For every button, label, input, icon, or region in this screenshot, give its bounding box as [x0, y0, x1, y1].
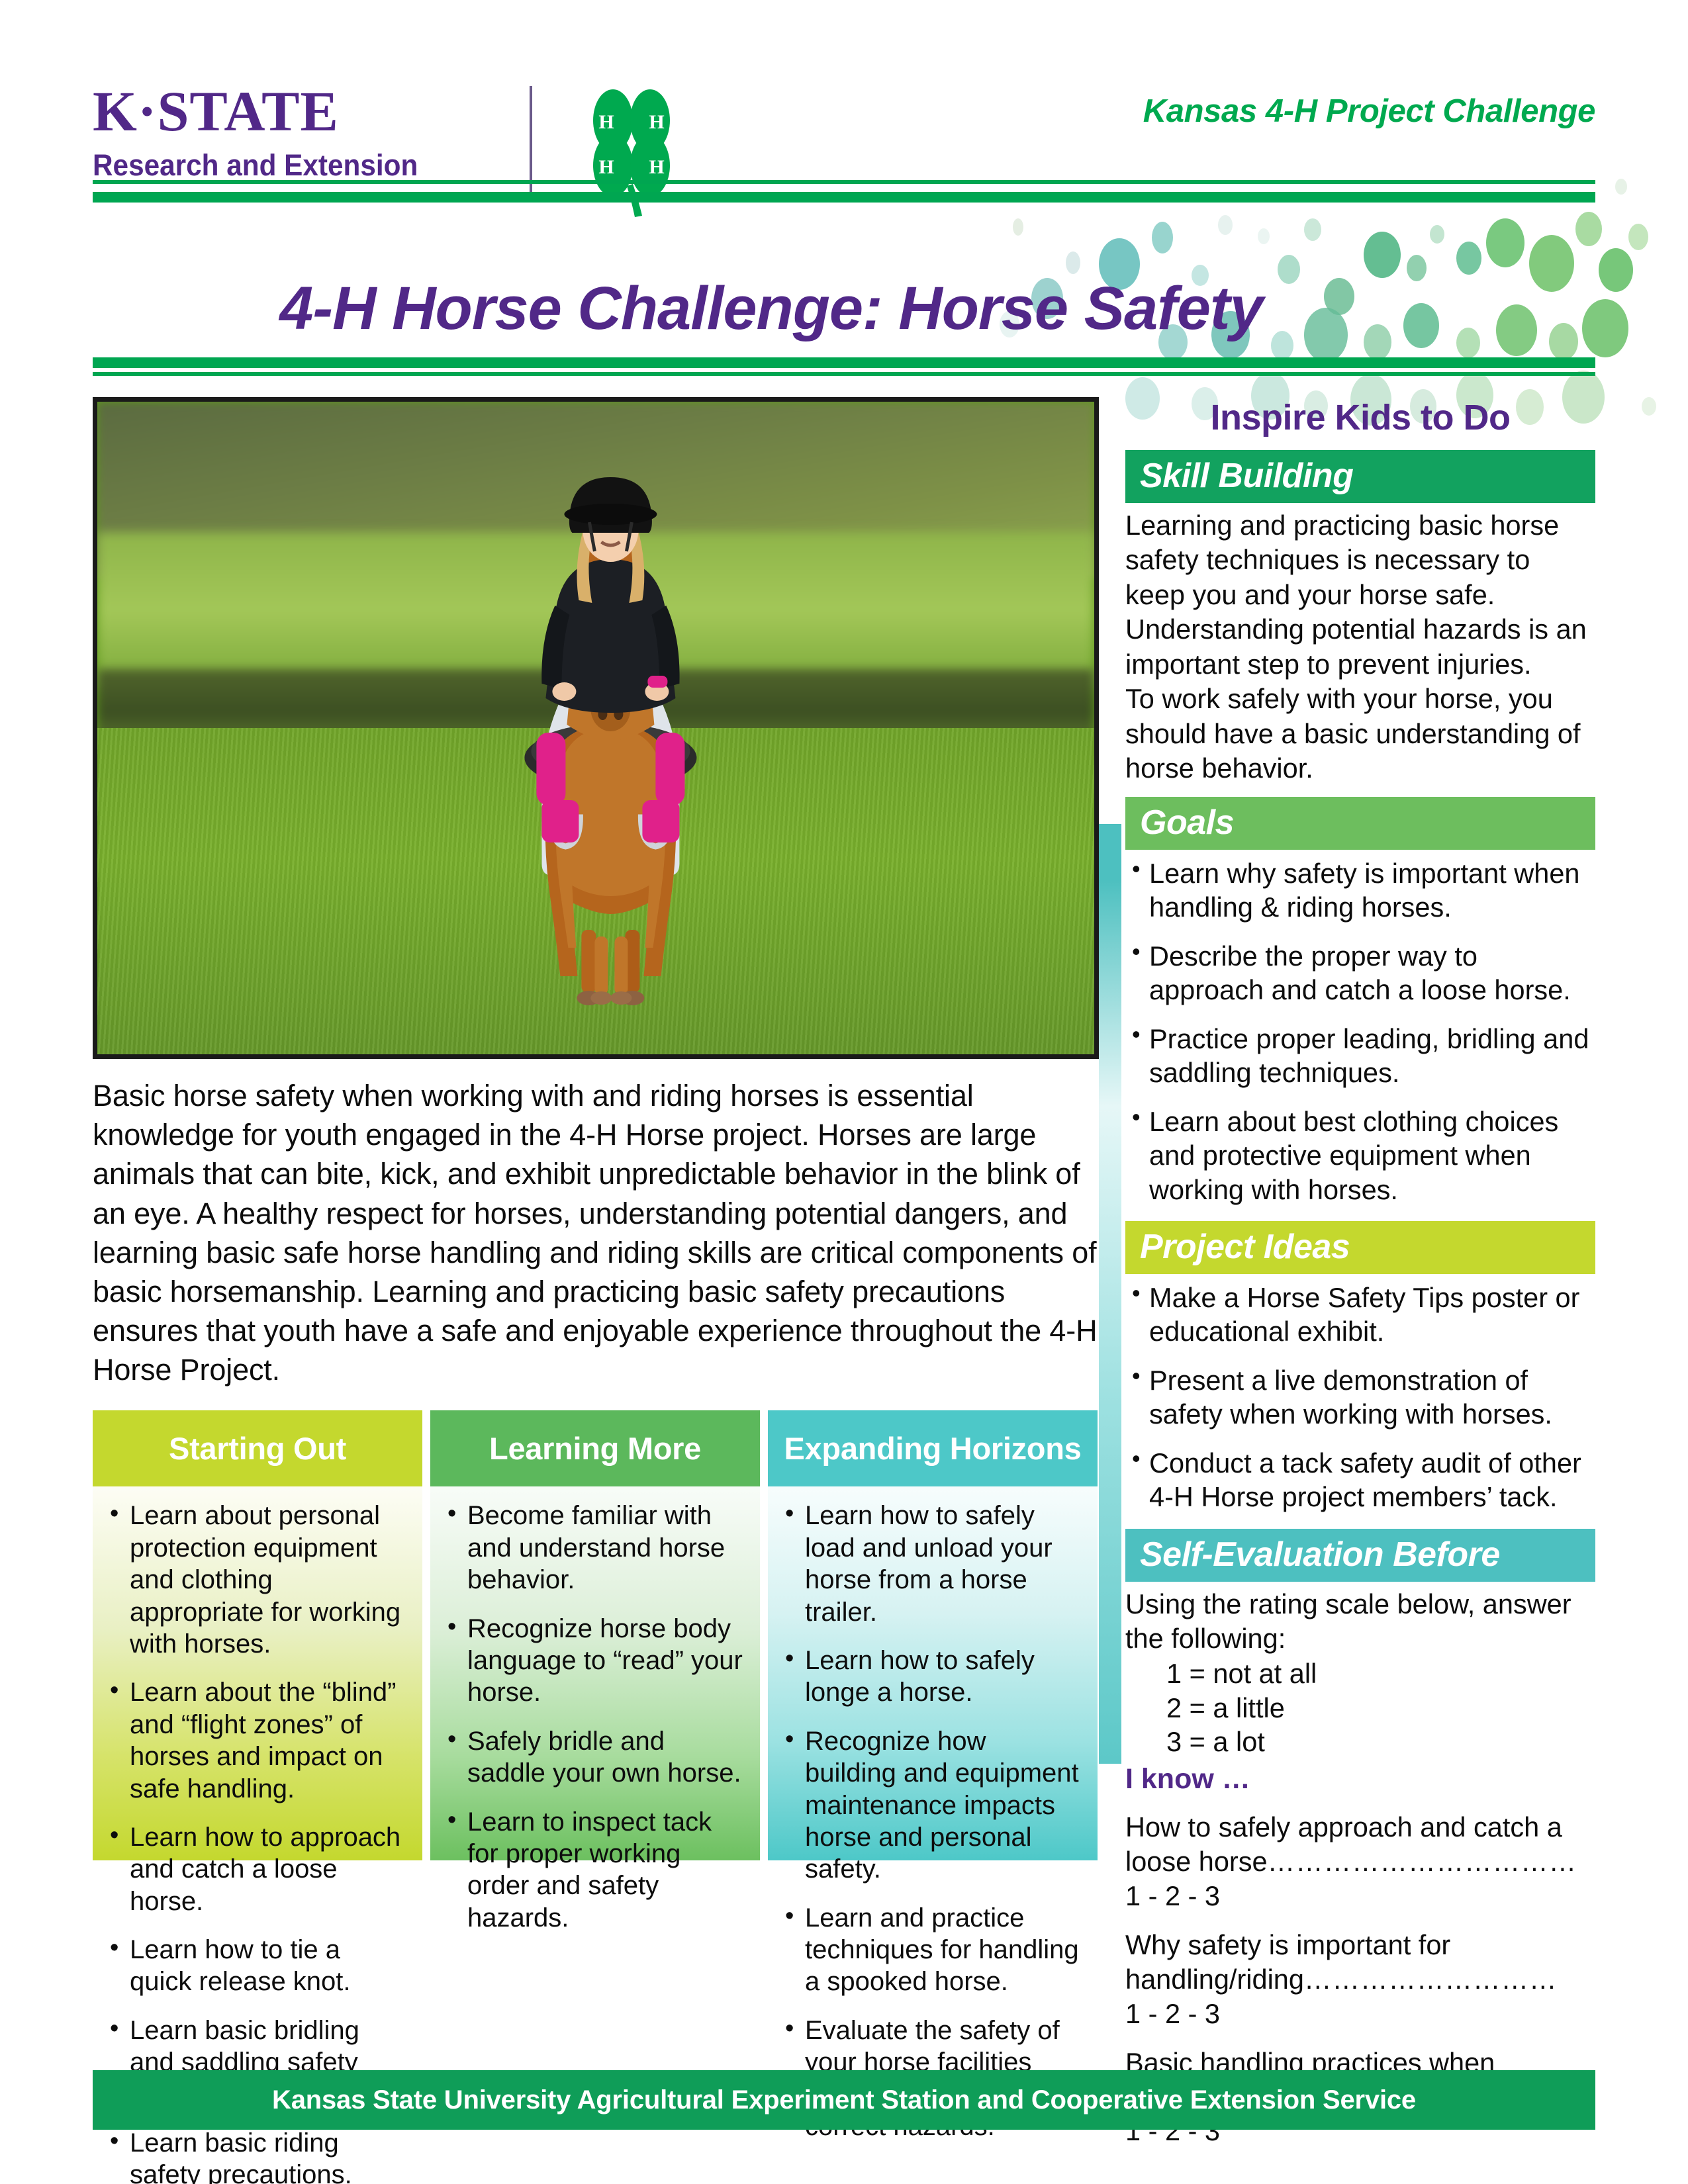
- rating-options[interactable]: 1 - 2 - 3: [1125, 1880, 1220, 1911]
- list-item: Learn basic riding safety precautions.: [105, 2127, 408, 2184]
- leader-dots: ……………………………: [1268, 1846, 1577, 1877]
- kstate-logo: K·STATE Research and Extension: [93, 85, 437, 183]
- list-item: Present a live demonstration of safety w…: [1125, 1363, 1595, 1432]
- level-column-learning-more: Learning More Become familiar with and u…: [430, 1410, 760, 1860]
- project-ideas-list: Make a Horse Safety Tips poster or educa…: [1125, 1274, 1595, 1514]
- level-header-expanding-horizons: Expanding Horizons: [768, 1410, 1098, 1486]
- self-evaluation-intro: Using the rating scale below, answer the…: [1125, 1582, 1595, 1657]
- sidebar-accent-strip: [1099, 824, 1121, 1764]
- self-eval-question: Why safety is important for handling/rid…: [1125, 1928, 1595, 2031]
- header-rule-thick: [93, 192, 1595, 203]
- levels-columns: Starting Out Learn about personal protec…: [93, 1410, 1099, 1860]
- poster-page: K·STATE Research and Extension H H H H: [0, 0, 1688, 2184]
- list-item: Learn how to tie a quick release knot.: [105, 1934, 408, 1998]
- list-item: Safely bridle and saddle your own horse.: [442, 1725, 745, 1790]
- list-item: Become familiar with and understand hors…: [442, 1500, 745, 1596]
- list-item: Learn how to approach and catch a loose …: [105, 1821, 408, 1917]
- level-body-expanding-horizons: Learn how to safely load and unload your…: [768, 1486, 1098, 1860]
- hero-photo: [93, 397, 1099, 1059]
- title-band: 4-H Horse Challenge: Horse Safety: [0, 251, 1688, 384]
- kstate-logo-subtitle: Research and Extension: [93, 148, 416, 183]
- list-item: Describe the proper way to approach and …: [1125, 939, 1595, 1007]
- rating-options[interactable]: 1 - 2 - 3: [1125, 1998, 1220, 2029]
- rating-scale-item: 1 = not at all: [1166, 1657, 1595, 1691]
- rating-scale-item: 3 = a lot: [1166, 1725, 1595, 1759]
- logo-divider: [530, 86, 532, 195]
- level-body-starting-out: Learn about personal protection equipmen…: [93, 1486, 422, 1860]
- kstate-wordmark: K·STATE: [93, 85, 437, 139]
- section-header-skill-building: Skill Building: [1125, 450, 1595, 503]
- sidebar-title: Inspire Kids to Do: [1125, 397, 1595, 438]
- list-item: Learn about the “blind” and “flight zone…: [105, 1676, 408, 1805]
- page-footer: Kansas State University Agricultural Exp…: [93, 2070, 1595, 2130]
- skill-building-line: Learning and practicing basic horse safe…: [1125, 508, 1595, 786]
- left-column: Basic horse safety when working with and…: [93, 397, 1099, 1860]
- list-item: Learn how to safely load and unload your…: [780, 1500, 1083, 1628]
- list-item: Learn why safety is important when handl…: [1125, 856, 1595, 925]
- list-item: Recognize how building and equipment mai…: [780, 1725, 1083, 1886]
- horse-and-rider-illustration: [425, 473, 796, 1026]
- section-header-goals: Goals: [1125, 797, 1595, 850]
- level-header-learning-more: Learning More: [430, 1410, 760, 1486]
- goals-list: Learn why safety is important when handl…: [1125, 850, 1595, 1206]
- list-item: Learn about best clothing choices and pr…: [1125, 1105, 1595, 1206]
- list-item: Learn and practice techniques for handli…: [780, 1902, 1083, 1998]
- skill-building-body: Learning and practicing basic horse safe…: [1125, 503, 1595, 786]
- list-item: Learn how to safely longe a horse.: [780, 1645, 1083, 1709]
- level-header-starting-out: Starting Out: [93, 1410, 422, 1486]
- svg-text:H: H: [649, 156, 664, 178]
- page-title: 4-H Horse Challenge: Horse Safety: [0, 274, 1542, 343]
- list-item: Make a Horse Safety Tips poster or educa…: [1125, 1281, 1595, 1349]
- section-header-self-evaluation: Self-Evaluation Before: [1125, 1529, 1595, 1582]
- title-rule-thick: [93, 357, 1595, 368]
- level-body-learning-more: Become familiar with and understand hors…: [430, 1486, 760, 1860]
- svg-text:H: H: [598, 111, 614, 133]
- intro-paragraph: Basic horse safety when working with and…: [93, 1076, 1099, 1389]
- list-item: Conduct a tack safety audit of other 4-H…: [1125, 1446, 1595, 1514]
- list-item: Practice proper leading, bridling and sa…: [1125, 1022, 1595, 1090]
- leader-dots: ………………………: [1304, 1964, 1558, 1995]
- self-eval-question: How to safely approach and catch a loose…: [1125, 1810, 1595, 1913]
- sidebar: Inspire Kids to Do Skill Building Learni…: [1125, 397, 1595, 2148]
- page-header: K·STATE Research and Extension H H H H: [0, 0, 1688, 238]
- level-column-expanding-horizons: Expanding Horizons Learn how to safely l…: [768, 1410, 1098, 1860]
- i-know-label: I know …: [1125, 1763, 1595, 1796]
- section-header-project-ideas: Project Ideas: [1125, 1221, 1595, 1274]
- footer-text: Kansas State University Agricultural Exp…: [272, 2085, 1416, 2115]
- list-item: Learn about personal protection equipmen…: [105, 1500, 408, 1660]
- list-item: Recognize horse body language to “read” …: [442, 1613, 745, 1709]
- svg-text:H: H: [649, 111, 664, 133]
- rating-scale-item: 2 = a little: [1166, 1691, 1595, 1725]
- level-column-starting-out: Starting Out Learn about personal protec…: [93, 1410, 422, 1860]
- rating-scale: 1 = not at all 2 = a little 3 = a lot: [1125, 1657, 1595, 1760]
- title-rule-thin: [93, 372, 1595, 376]
- svg-text:H: H: [598, 156, 614, 178]
- list-item: Learn to inspect tack for proper working…: [442, 1806, 745, 1934]
- header-rule-thin: [93, 180, 1595, 184]
